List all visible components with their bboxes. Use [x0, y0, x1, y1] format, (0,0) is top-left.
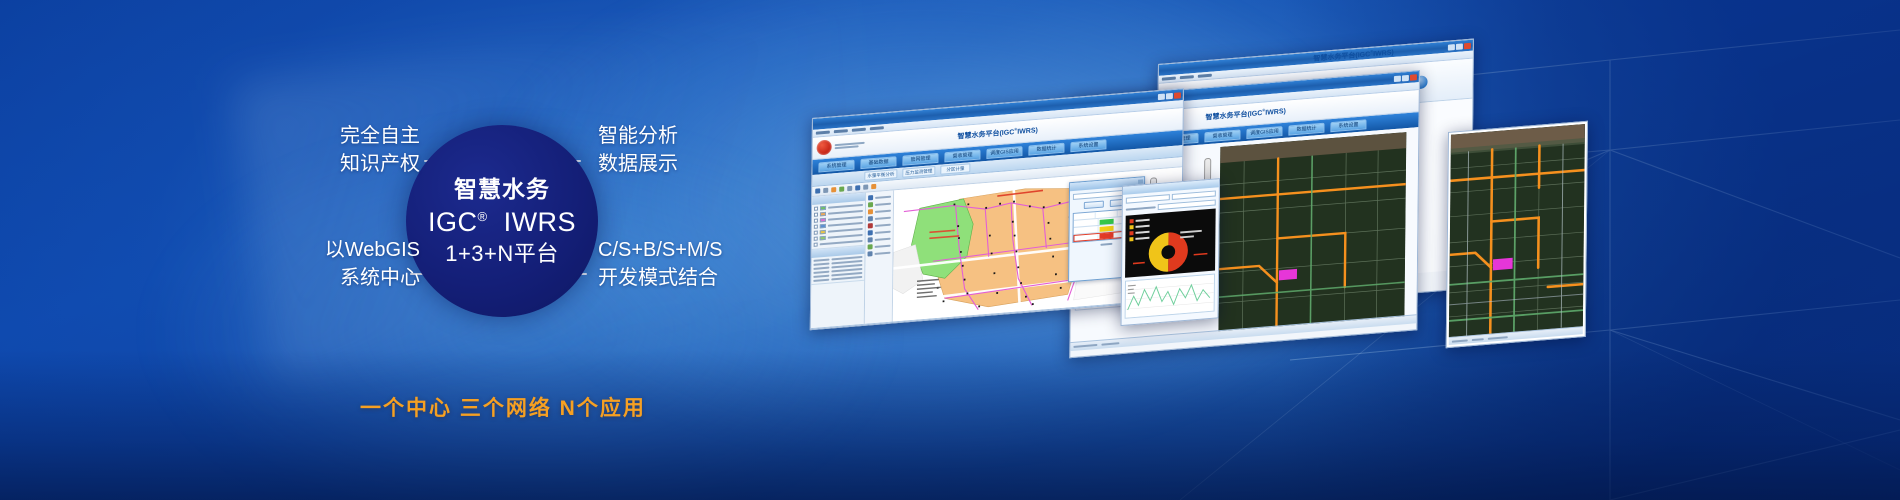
satellite-map-front[interactable]	[1449, 124, 1585, 337]
window-title-middle: 智慧水务平台(IGC®IWRS)	[1205, 106, 1285, 123]
layer-tree-body[interactable]	[812, 201, 865, 249]
close-icon[interactable]	[1174, 92, 1181, 99]
brand-igc: IGC	[428, 207, 478, 237]
status-swatch-yellow	[1100, 225, 1114, 231]
nav-tab[interactable]: 营收管理	[1204, 129, 1240, 142]
dialog-close-icon[interactable]	[1138, 179, 1143, 183]
status-text	[1101, 342, 1119, 345]
satellite-map-middle[interactable]	[1218, 132, 1406, 332]
checkbox-icon[interactable]	[814, 225, 818, 229]
sub-tab-pressure[interactable]: 压力监测管理	[902, 166, 935, 178]
feature-bottom-left-line1: 以WebGIS	[325, 239, 420, 261]
print-tool-icon[interactable]	[863, 184, 868, 189]
layer-panel-front[interactable]	[811, 193, 866, 328]
tool-query[interactable]	[868, 201, 891, 208]
status-swatch-green	[1100, 218, 1114, 224]
dashboard-select[interactable]	[1126, 194, 1170, 204]
registered-mark-icon: ®	[477, 209, 487, 224]
legend-swatch	[820, 212, 826, 216]
menu-item-file[interactable]	[816, 131, 830, 135]
legend-swatch	[820, 230, 826, 234]
status-text	[1073, 344, 1097, 348]
checkbox-icon[interactable]	[814, 219, 818, 223]
legend-swatch	[820, 236, 826, 240]
legend-swatch	[820, 218, 826, 222]
menu-item-view[interactable]	[852, 128, 866, 132]
satellite-map-svg	[1218, 132, 1406, 332]
nav-tab-gis[interactable]: 调度GIS应用	[986, 146, 1022, 159]
nav-tab-pipenet[interactable]: 管网管理	[902, 152, 938, 165]
menu-item[interactable]	[1162, 77, 1176, 81]
tree-label	[828, 216, 863, 221]
brand-circle: 智慧水务 IGC® IWRS 1+3+N平台	[406, 125, 598, 317]
tool-valve[interactable]	[868, 222, 891, 229]
checkbox-icon[interactable]	[814, 207, 818, 211]
tree-label	[820, 240, 863, 245]
legend-swatch	[820, 206, 826, 210]
maximize-icon[interactable]	[1402, 74, 1409, 81]
layer-tree-panel[interactable]	[812, 193, 866, 250]
satellite-map-front-svg	[1449, 124, 1585, 337]
tool-trace[interactable]	[868, 215, 891, 222]
feature-top-right-line1: 智能分析	[598, 125, 678, 147]
nav-tab-settings[interactable]: 系统设置	[1070, 139, 1106, 152]
water-drop-logo-icon	[817, 139, 832, 155]
menu-item[interactable]	[1198, 74, 1212, 78]
properties-panel[interactable]	[811, 246, 864, 285]
dashboard-window[interactable]	[1121, 178, 1220, 326]
gis-tool-strip[interactable]	[865, 190, 894, 323]
minimize-icon[interactable]	[1158, 93, 1165, 100]
dialog-confirm-button[interactable]	[1084, 200, 1104, 209]
close-icon[interactable]	[1464, 42, 1471, 49]
tool-settings[interactable]	[867, 250, 890, 257]
feature-top-right: 智能分析 数据展示	[598, 122, 678, 179]
menu-item-tools[interactable]	[870, 126, 884, 130]
checkbox-icon[interactable]	[814, 237, 818, 241]
brand-circle-line2: IGC® IWRS	[428, 207, 576, 239]
dashboard-body[interactable]	[1122, 187, 1219, 322]
brand-iwrs: IWRS	[504, 207, 577, 237]
menu-item-edit[interactable]	[834, 129, 848, 133]
dashboard-date[interactable]	[1172, 190, 1216, 200]
zoom-in-tool-icon[interactable]	[831, 187, 836, 192]
tool-print[interactable]	[868, 243, 891, 250]
checkbox-icon[interactable]	[814, 231, 818, 235]
zoom-out-tool-icon[interactable]	[839, 186, 844, 191]
feature-top-right-line2: 数据展示	[598, 150, 678, 178]
properties-panel-body	[811, 254, 864, 284]
nav-tab-stats[interactable]: 数据统计	[1028, 142, 1064, 155]
legend-swatch	[820, 224, 826, 228]
selection-highlight	[1493, 258, 1513, 271]
trend-line-chart[interactable]	[1125, 274, 1215, 319]
nav-tab[interactable]: 系统设置	[1330, 119, 1366, 132]
layers-tool-icon[interactable]	[871, 184, 876, 189]
satellite-map-window[interactable]	[1446, 121, 1588, 348]
pie-chart-svg	[1125, 208, 1216, 277]
feature-top-left-line1: 完全自主	[340, 125, 420, 147]
nav-tab-basedata[interactable]: 基础数据	[860, 156, 896, 169]
checkbox-icon[interactable]	[814, 213, 818, 217]
sub-tab-metering[interactable]: 分区计量	[940, 163, 970, 174]
minimize-icon[interactable]	[1448, 44, 1455, 51]
tree-label	[828, 234, 863, 239]
dialog-footer-text	[1100, 243, 1112, 246]
tree-label	[828, 222, 863, 227]
minimize-icon[interactable]	[1394, 75, 1401, 82]
tree-label	[828, 228, 863, 233]
nav-tab[interactable]: 数据统计	[1288, 122, 1324, 135]
tool-buffer[interactable]	[868, 208, 891, 215]
tool-label[interactable]	[868, 229, 891, 236]
tool-select[interactable]	[868, 194, 891, 201]
feature-top-left-line2: 知识产权	[300, 150, 420, 178]
menu-item[interactable]	[1180, 75, 1194, 79]
feature-bottom-right-line1: C/S+B/S+M/S	[598, 239, 723, 261]
pointer-tool-icon[interactable]	[815, 188, 820, 193]
feature-bottom-left: 以WebGIS 系统中心	[280, 236, 420, 293]
status-message	[868, 325, 902, 330]
checkbox-icon[interactable]	[814, 243, 818, 247]
tree-label	[828, 210, 863, 215]
loss-rate-pie-chart[interactable]	[1125, 208, 1216, 277]
status-swatch-red	[1099, 233, 1113, 239]
tool-export[interactable]	[868, 236, 891, 243]
nav-tab-revenue[interactable]: 营收管理	[944, 149, 980, 162]
maximize-icon[interactable]	[1456, 43, 1463, 50]
sub-tab-balance[interactable]: 水量平衡分析	[864, 169, 897, 181]
brand-name-front	[835, 142, 865, 149]
feature-bottom-left-line2: 系统中心	[280, 264, 420, 292]
maximize-icon[interactable]	[1166, 92, 1173, 99]
close-icon[interactable]	[1410, 74, 1417, 81]
status-scale	[844, 328, 864, 330]
tree-label	[828, 204, 863, 209]
identify-tool-icon[interactable]	[855, 185, 860, 190]
trend-line-svg	[1126, 275, 1214, 318]
pan-tool-icon[interactable]	[823, 188, 828, 193]
feature-bottom-right: C/S+B/S+M/S 开发模式结合	[598, 236, 723, 293]
promo-banner: 智慧水务 IGC® IWRS 1+3+N平台 完全自主 知识产权 以WebGIS…	[0, 0, 1900, 500]
brand-circle-line1: 智慧水务	[454, 176, 550, 203]
banner-tagline: 一个中心 三个网络 N个应用	[360, 392, 646, 422]
brand-circle-line3: 1+3+N平台	[445, 241, 559, 267]
feature-bottom-right-line2: 开发模式结合	[598, 264, 723, 292]
nav-tab-system[interactable]: 系统管理	[818, 159, 854, 172]
dashboard-label	[1126, 206, 1156, 210]
nav-tab[interactable]: 调度GIS应用	[1246, 126, 1282, 139]
measure-tool-icon[interactable]	[847, 186, 852, 191]
feature-hub: 智慧水务 IGC® IWRS 1+3+N平台 完全自主 知识产权 以WebGIS…	[0, 0, 820, 500]
window-title-front: 智慧水务平台(IGC®IWRS)	[957, 125, 1037, 142]
feature-top-left: 完全自主 知识产权	[300, 122, 420, 179]
